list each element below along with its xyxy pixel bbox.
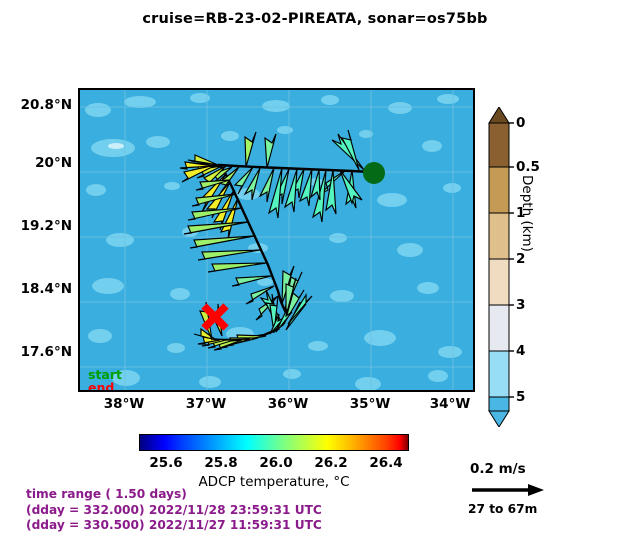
x-tick-label-1: 37°W [186,396,226,412]
x-tick-label-0: 38°W [104,396,144,412]
time-range-line-2: (dday = 332.000) 2022/11/28 23:59:31 UTC [26,503,322,519]
velocity-scale-value: 0.2 m/s [470,461,526,477]
time-range-block: time range ( 1.50 days) (dday = 332.000)… [26,487,322,534]
temp-tick-2: 26.0 [259,455,292,471]
x-tick-label-4: 34°W [430,396,470,412]
depth-colorbar-top-cap [489,107,509,123]
temperature-colorbar[interactable] [139,434,409,451]
temp-tick-4: 26.4 [369,455,402,471]
ocean-background [80,90,473,390]
end-label: end [88,380,114,392]
depth-tick-1: 0.5 [516,159,540,175]
temp-tick-1: 25.8 [204,455,237,471]
velocity-depth-range: 27 to 67m [468,502,537,516]
depth-colorbar-bands [489,123,509,411]
bathymetry-shallowest-patch [108,143,124,149]
depth-tick-0: 0 [516,115,525,131]
page-title: cruise=RB-23-02-PIREATA, sonar=os75bb [0,11,630,27]
depth-tick-6: 5 [516,389,525,405]
temp-tick-3: 26.2 [314,455,347,471]
y-tick-label-4: 17.6°N [8,344,72,360]
time-range-line-1: time range ( 1.50 days) [26,487,322,503]
x-tick-label-3: 35°W [350,396,390,412]
y-tick-label-3: 18.4°N [8,281,72,297]
velocity-scale-arrow-icon [470,482,550,498]
temp-tick-0: 25.6 [149,455,182,471]
y-tick-label-2: 19.2°N [8,218,72,234]
y-tick-label-0: 20.8°N [8,97,72,113]
y-tick-label-1: 20°N [8,155,72,171]
depth-tick-5: 4 [516,343,525,359]
map-canvas [80,90,473,390]
depth-colorbar-label: Depth (km) [519,175,535,252]
time-range-line-3: (dday = 330.500) 2022/11/27 11:59:31 UTC [26,518,322,534]
depth-colorbar[interactable] [488,107,514,427]
x-tick-label-2: 36°W [268,396,308,412]
map-plot-area[interactable]: start end [78,88,475,392]
depth-colorbar-ticks [509,123,514,397]
start-marker [363,162,385,184]
depth-colorbar-bottom-cap [489,411,509,427]
depth-tick-4: 3 [516,297,525,313]
depth-tick-3: 2 [516,251,525,267]
